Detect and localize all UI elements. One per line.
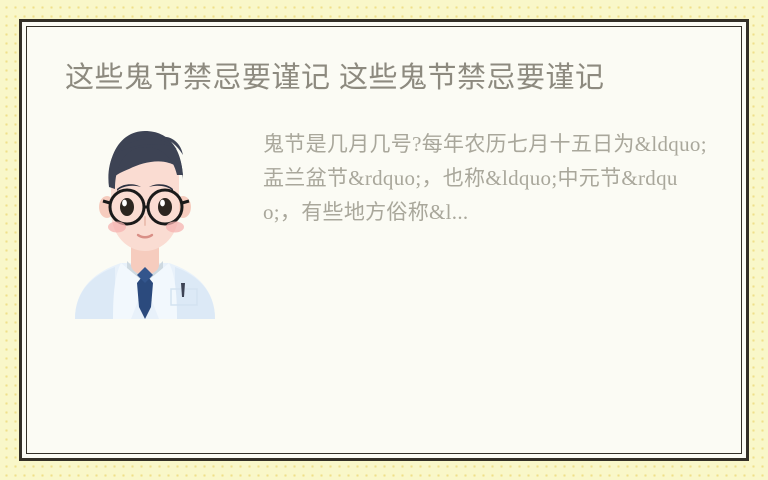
page-background: 这些鬼节禁忌要谨记 这些鬼节禁忌要谨记 xyxy=(0,0,768,480)
page-title: 这些鬼节禁忌要谨记 这些鬼节禁忌要谨记 xyxy=(65,57,715,99)
boy-with-glasses-lab-coat-icon xyxy=(65,123,225,319)
article-card: 这些鬼节禁忌要谨记 这些鬼节禁忌要谨记 xyxy=(27,27,741,453)
article-excerpt: 鬼节是几月几号?每年农历七月十五日为&ldquo;盂兰盆节&rdquo;，也称&… xyxy=(263,127,715,229)
decorative-frame-outer: 这些鬼节禁忌要谨记 这些鬼节禁忌要谨记 xyxy=(19,19,749,461)
article-content-row: 鬼节是几月几号?每年农历七月十五日为&ldquo;盂兰盆节&rdquo;，也称&… xyxy=(65,123,715,319)
decorative-frame-inner: 这些鬼节禁忌要谨记 这些鬼节禁忌要谨记 xyxy=(26,26,742,454)
article-thumbnail[interactable] xyxy=(65,123,225,319)
